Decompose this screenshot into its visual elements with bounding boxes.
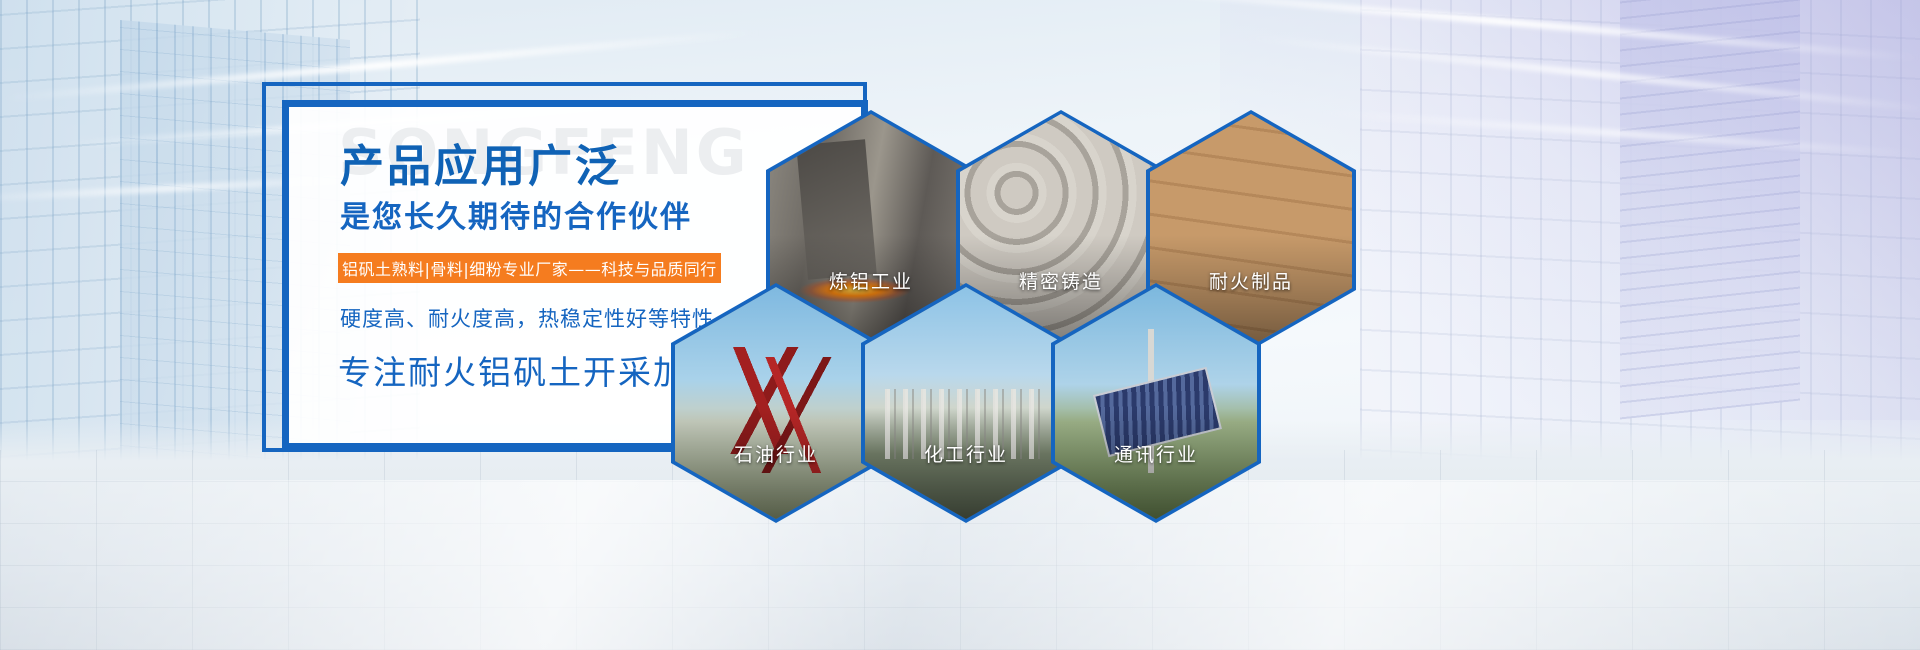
tagline-badge: 铝矾土熟料|骨料|细粉专业厂家——科技与品质同行 xyxy=(338,253,721,283)
page-title: 产品应用广泛 xyxy=(340,130,622,194)
right-tower-icon xyxy=(1620,0,1800,419)
application-hex-grid: 炼铝工业 精密铸造 耐火制品 石油行业 化工行业 xyxy=(680,70,1380,540)
hex-label: 化工行业 xyxy=(865,440,1067,467)
light-streak-icon xyxy=(1081,0,1918,62)
page-subtitle: 是您长久期待的合作伙伴 xyxy=(340,192,692,236)
focus-text: 专注耐火铝矾土开采加工 xyxy=(338,346,723,394)
hex-label: 石油行业 xyxy=(675,440,877,467)
promotional-banner: SONGFENG 产品应用广泛 是您长久期待的合作伙伴 铝矾土熟料|骨料|细粉专… xyxy=(0,0,1920,650)
feature-text: 硬度高、耐火度高，热稳定性好等特性 xyxy=(340,303,714,333)
hex-label: 通讯行业 xyxy=(1055,440,1257,467)
right-building-facade-icon xyxy=(1360,0,1920,520)
tagline-badge-label: 铝矾土熟料|骨料|细粉专业厂家——科技与品质同行 xyxy=(342,256,717,280)
hex-label: 耐火制品 xyxy=(1150,267,1352,294)
hex-label: 炼铝工业 xyxy=(770,267,972,294)
light-streak-icon xyxy=(1320,109,1919,158)
hex-label: 精密铸造 xyxy=(960,267,1162,294)
